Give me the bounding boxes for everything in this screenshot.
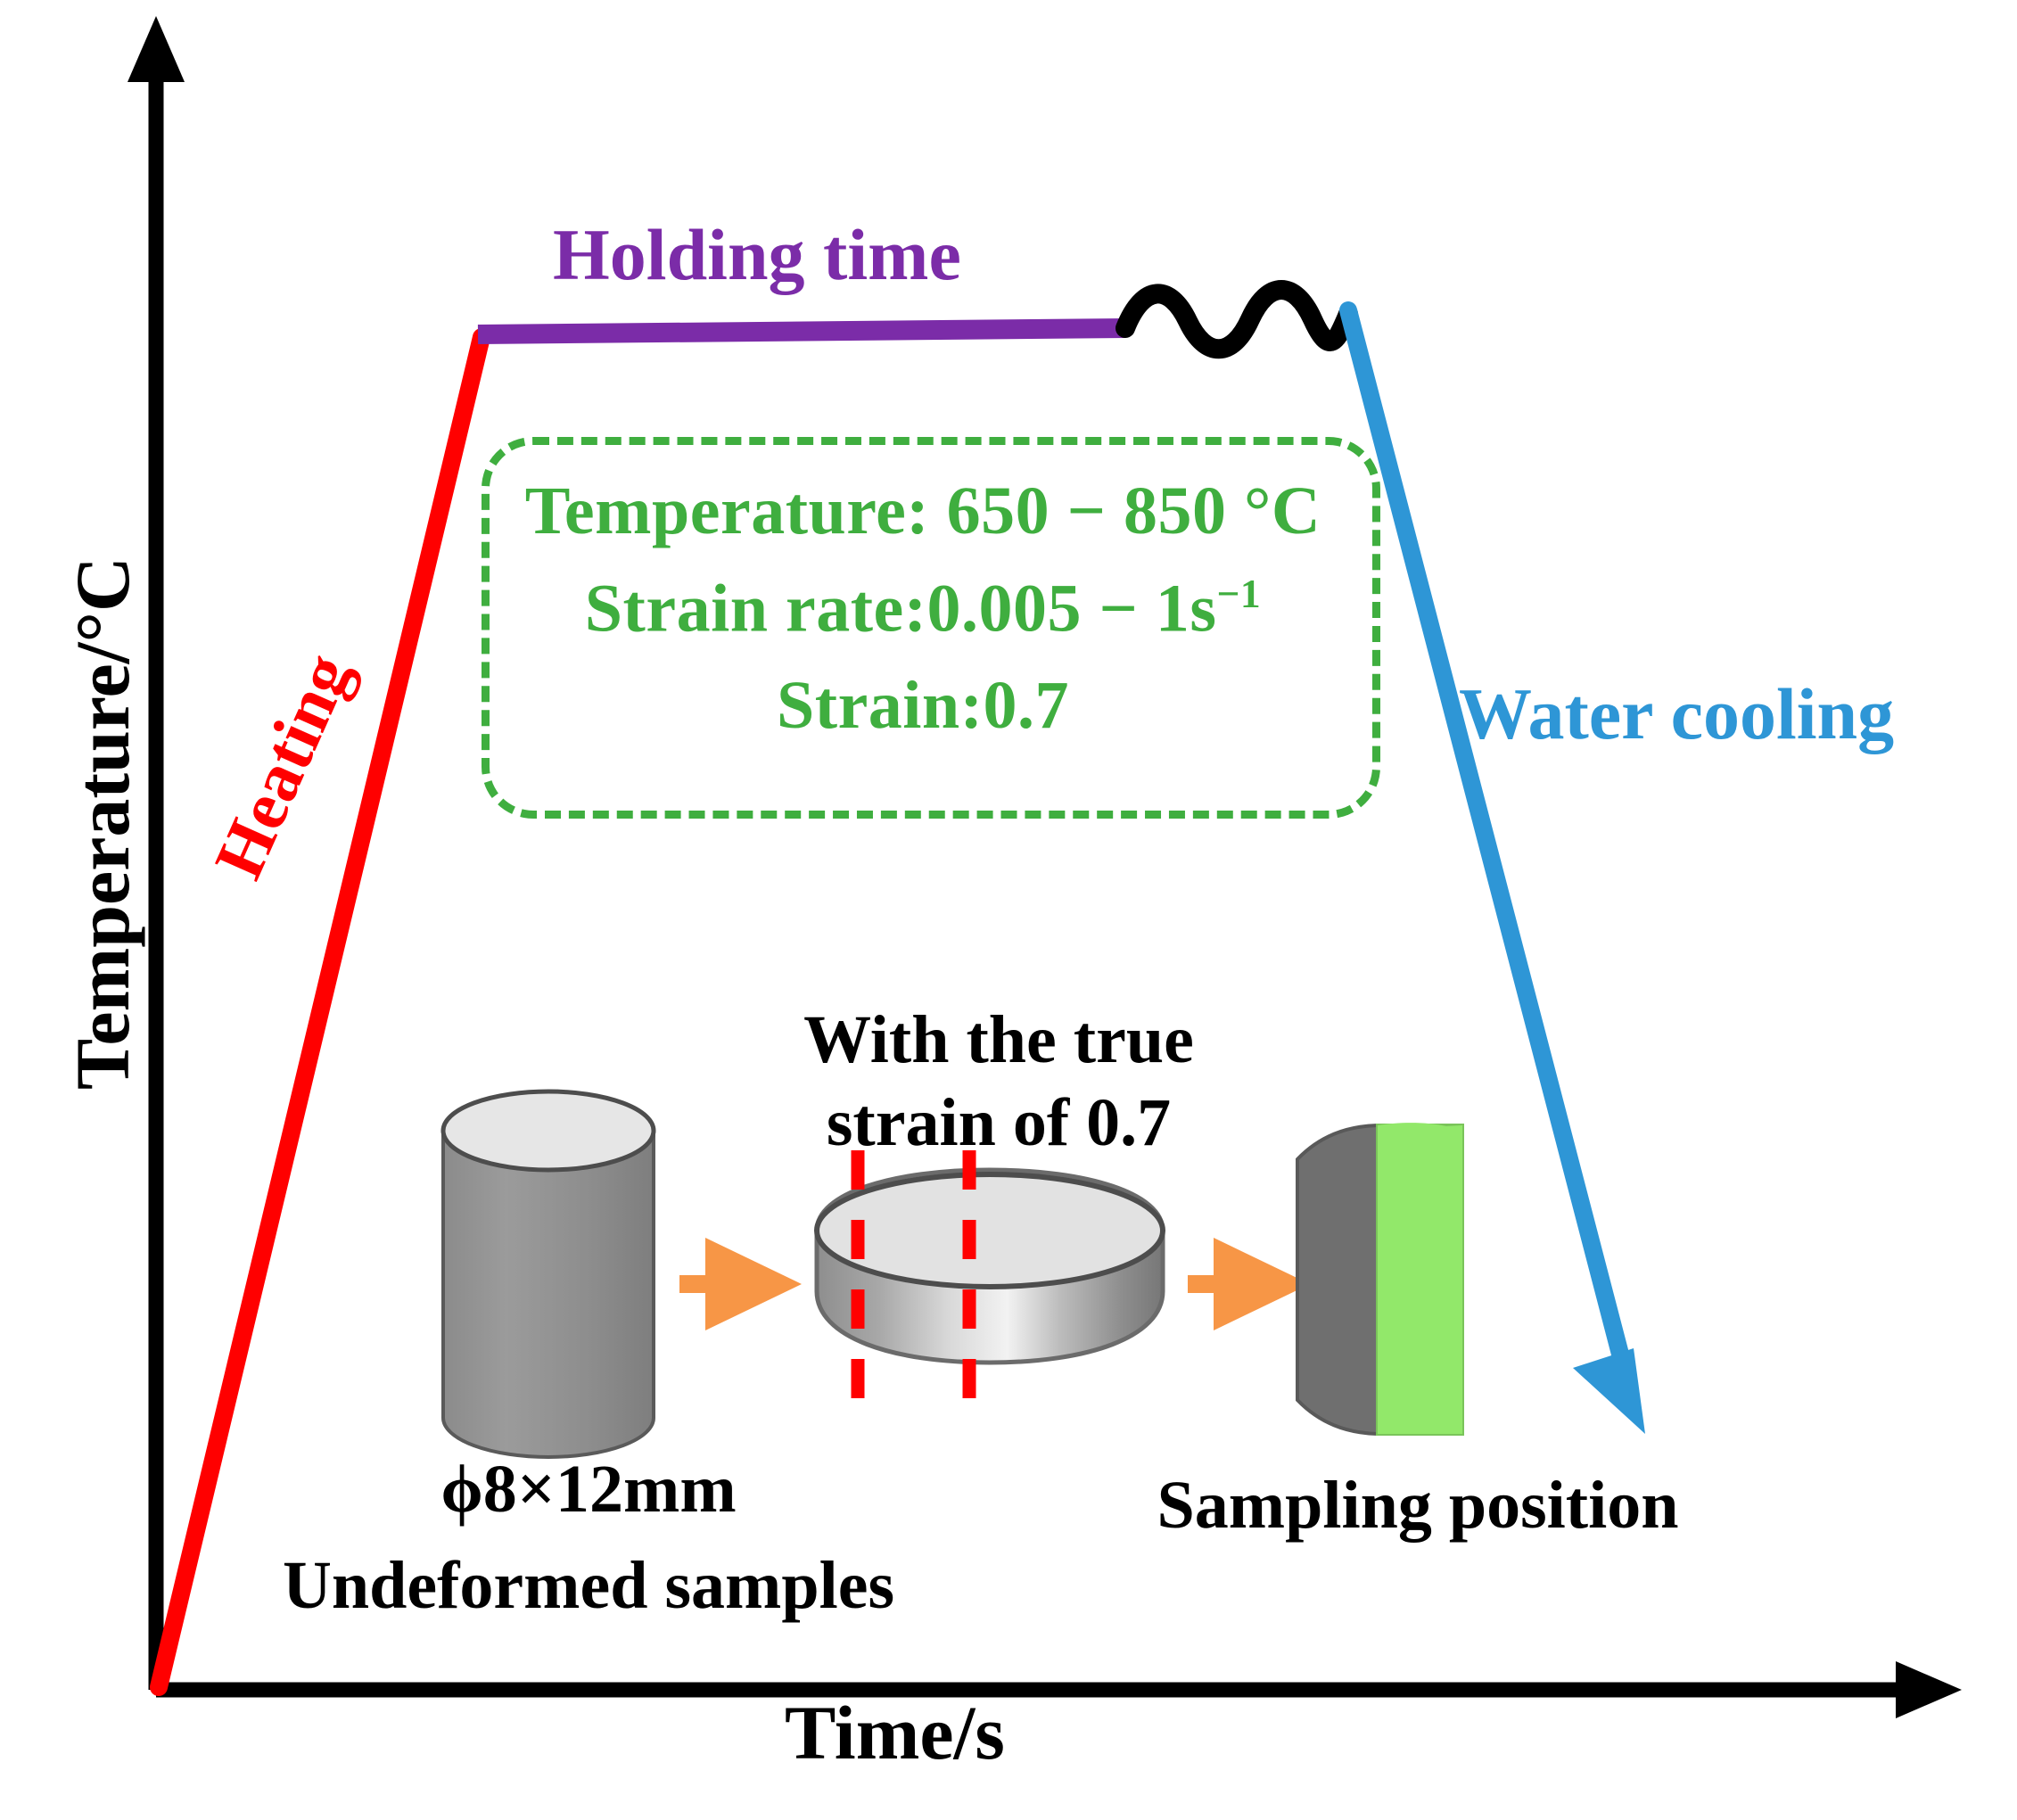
holding-time-label: Holding time [553,218,961,292]
diagram-canvas [0,0,2017,1820]
parameter-text-group: Temperature: 650 − 850 °C Strain rate:0.… [482,473,1364,764]
undeformed-cylinder-sample [443,1091,654,1457]
undeformed-sample-caption: Undeformed samples [205,1552,972,1619]
parameter-strain-rate-exponent: −1 [1216,571,1261,616]
deformation-wave [1125,290,1348,349]
process-route-diagram: Temperature/°C Time/s Holding time Heati… [0,0,2017,1820]
parameter-strain-rate-text: Strain rate:0.005 − 1s [585,571,1217,646]
sampling-position-sample [1297,1123,1462,1434]
deformed-disc-sample [817,1170,1163,1363]
undeformed-sample-dimension: ϕ8×12mm [339,1455,838,1523]
deformed-sample-caption: With the true strain of 0.7 [749,999,1248,1164]
x-axis-label: Time/s [785,1694,1005,1771]
parameter-strain-rate: Strain rate:0.005 − 1s−1 [482,570,1364,647]
water-cooling-label: Water cooling [1459,678,1894,751]
holding-line [478,328,1125,334]
deformed-sample-caption-line2: strain of 0.7 [749,1082,1248,1165]
parameter-strain: Strain:0.7 [482,667,1364,745]
deformed-sample-caption-line1: With the true [749,999,1248,1082]
y-axis-label: Temperature/°C [64,538,141,1108]
x-axis [156,1661,1962,1718]
parameter-temperature: Temperature: 650 − 850 °C [482,473,1364,550]
sampling-position-caption: Sampling position [1079,1471,1757,1539]
